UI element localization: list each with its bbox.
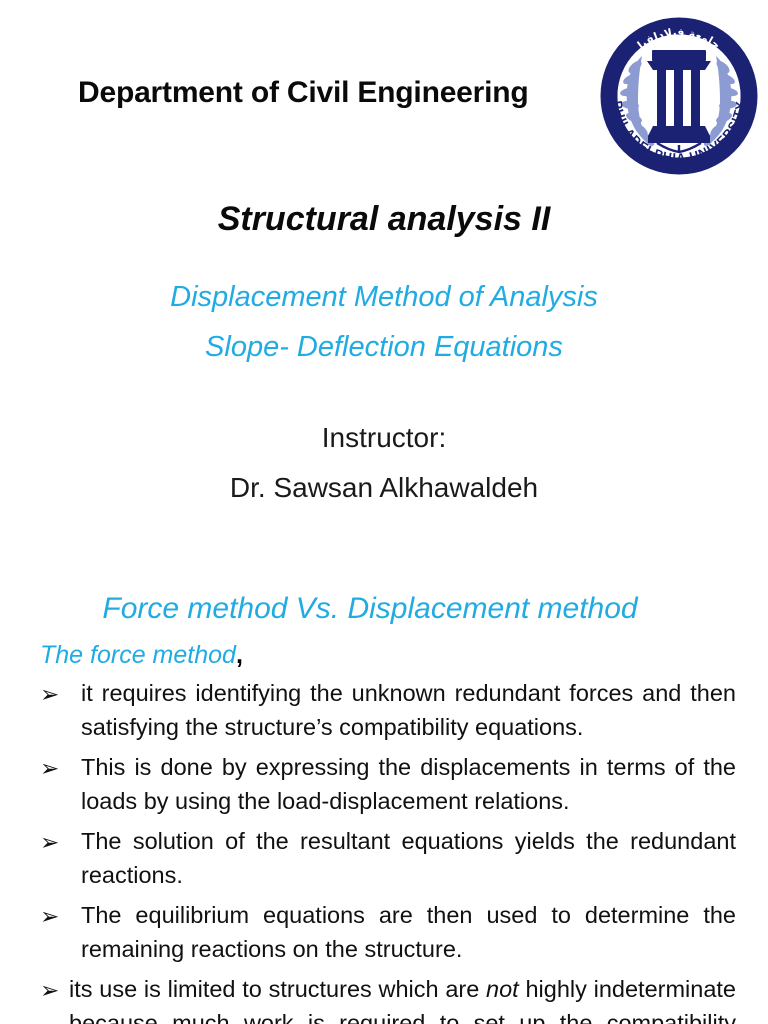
section-lead-in-text: The force method — [40, 641, 236, 669]
slide-page: Department of Civil Engineering جامعة في… — [0, 0, 768, 1024]
list-item-text: The equilibrium equations are then used … — [81, 898, 736, 966]
section-lead-in-punct: , — [236, 641, 243, 669]
course-subtitle-2: Slope- Deflection Equations — [0, 331, 768, 364]
arrowhead-bullet-icon: ➢ — [40, 677, 66, 711]
list-item-text-before: its use is limited to structures which a… — [69, 976, 486, 1002]
page-title: Department of Civil Engineering — [78, 76, 529, 110]
list-item: ➢ The equilibrium equations are then use… — [36, 898, 736, 966]
list-item-text: it requires identifying the unknown redu… — [81, 676, 736, 744]
arrowhead-bullet-icon: ➢ — [40, 973, 66, 1007]
list-item: ➢ it requires identifying the unknown re… — [36, 676, 736, 744]
list-item: ➢ The solution of the resultant equation… — [36, 824, 736, 892]
list-item-emphasis: not — [486, 976, 519, 1002]
list-item: ➢ its use is limited to structures which… — [36, 972, 736, 1024]
section-lead-in: The force method, — [40, 641, 243, 670]
arrowhead-bullet-icon: ➢ — [40, 899, 66, 933]
instructor-label: Instructor: — [0, 422, 768, 454]
bullet-list: ➢ it requires identifying the unknown re… — [36, 676, 736, 1024]
arrowhead-bullet-icon: ➢ — [40, 825, 66, 859]
list-item-text: This is done by expressing the displacem… — [81, 750, 736, 818]
list-item: ➢ This is done by expressing the displac… — [36, 750, 736, 818]
arrowhead-bullet-icon: ➢ — [40, 751, 66, 785]
university-seal-icon: جامعة فيلادلفيا — [597, 12, 761, 176]
course-subtitle-1: Displacement Method of Analysis — [0, 281, 768, 314]
list-item-text: its use is limited to structures which a… — [69, 972, 736, 1024]
section-heading: Force method Vs. Displacement method — [0, 592, 740, 626]
philadelphia-university-logo: جامعة فيلادلفيا — [597, 12, 761, 176]
course-title: Structural analysis II — [0, 200, 768, 239]
instructor-name: Dr. Sawsan Alkhawaldeh — [0, 472, 768, 504]
list-item-text: The solution of the resultant equations … — [81, 824, 736, 892]
slide-header: Department of Civil Engineering جامعة في… — [0, 0, 768, 182]
